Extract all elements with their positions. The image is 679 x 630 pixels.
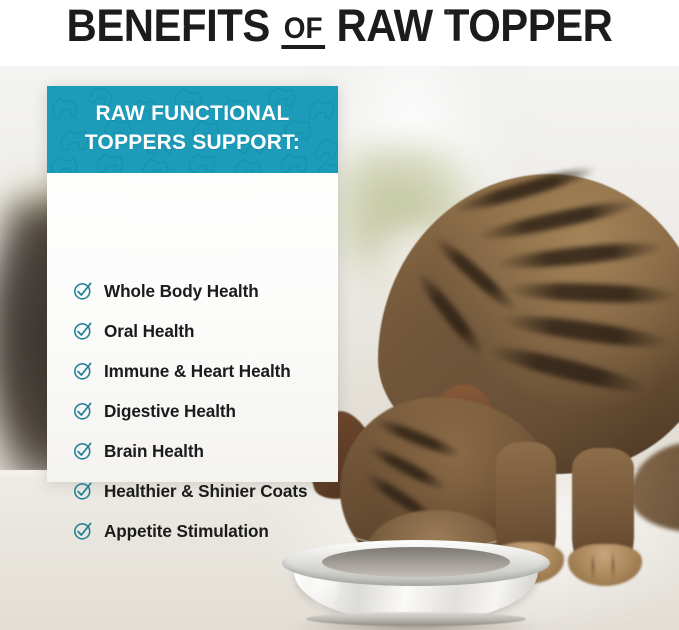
card-header-line-1: RAW FUNCTIONAL [95, 101, 289, 125]
list-item: Appetite Stimulation [73, 519, 272, 543]
title-part-1: BENEFITS [67, 0, 270, 51]
title-part-2: RAW TOPPER [336, 0, 612, 51]
check-circle-icon [73, 481, 93, 501]
check-circle-icon [73, 281, 93, 301]
cat-illustration [300, 112, 679, 562]
marketing-banner: RAW FUNCTIONAL TOPPERS SUPPORT: Whole Bo… [0, 0, 679, 630]
pet-food-bowl [282, 540, 550, 630]
card-header-line-2: TOPPERS SUPPORT: [85, 130, 300, 154]
check-circle-icon [73, 441, 93, 461]
title-bar: BENEFITS OF RAW TOPPER [0, 0, 679, 66]
check-circle-icon [73, 521, 93, 541]
benefit-label: Oral Health [104, 321, 194, 341]
bowl-interior [322, 547, 510, 577]
list-item: Brain Health [73, 439, 206, 463]
check-circle-icon [73, 401, 93, 421]
cat-toe-line [592, 552, 594, 580]
benefit-label: Healthier & Shinier Coats [104, 481, 307, 501]
list-item: Healthier & Shinier Coats [73, 479, 312, 503]
page-title: BENEFITS OF RAW TOPPER [24, 2, 655, 56]
title-of-word: OF [281, 12, 325, 49]
benefits-card: RAW FUNCTIONAL TOPPERS SUPPORT: Whole Bo… [47, 86, 338, 482]
card-header-title: RAW FUNCTIONAL TOPPERS SUPPORT: [51, 99, 333, 157]
benefits-list: Whole Body Health Oral Health Immune & H… [47, 173, 338, 482]
cat-toe-line [612, 550, 614, 580]
benefit-label: Brain Health [104, 441, 204, 461]
list-item: Oral Health [73, 319, 196, 343]
bowl-base [306, 612, 526, 626]
benefit-label: Immune & Heart Health [104, 361, 291, 381]
list-item: Whole Body Health [73, 279, 262, 303]
benefit-label: Whole Body Health [104, 281, 259, 301]
benefit-label: Appetite Stimulation [104, 521, 269, 541]
check-circle-icon [73, 361, 93, 381]
benefit-label: Digestive Health [104, 401, 236, 421]
cat-haunch [630, 442, 679, 532]
card-header: RAW FUNCTIONAL TOPPERS SUPPORT: [47, 86, 338, 173]
list-item: Digestive Health [73, 399, 239, 423]
list-item: Immune & Heart Health [73, 359, 294, 383]
check-circle-icon [73, 321, 93, 341]
